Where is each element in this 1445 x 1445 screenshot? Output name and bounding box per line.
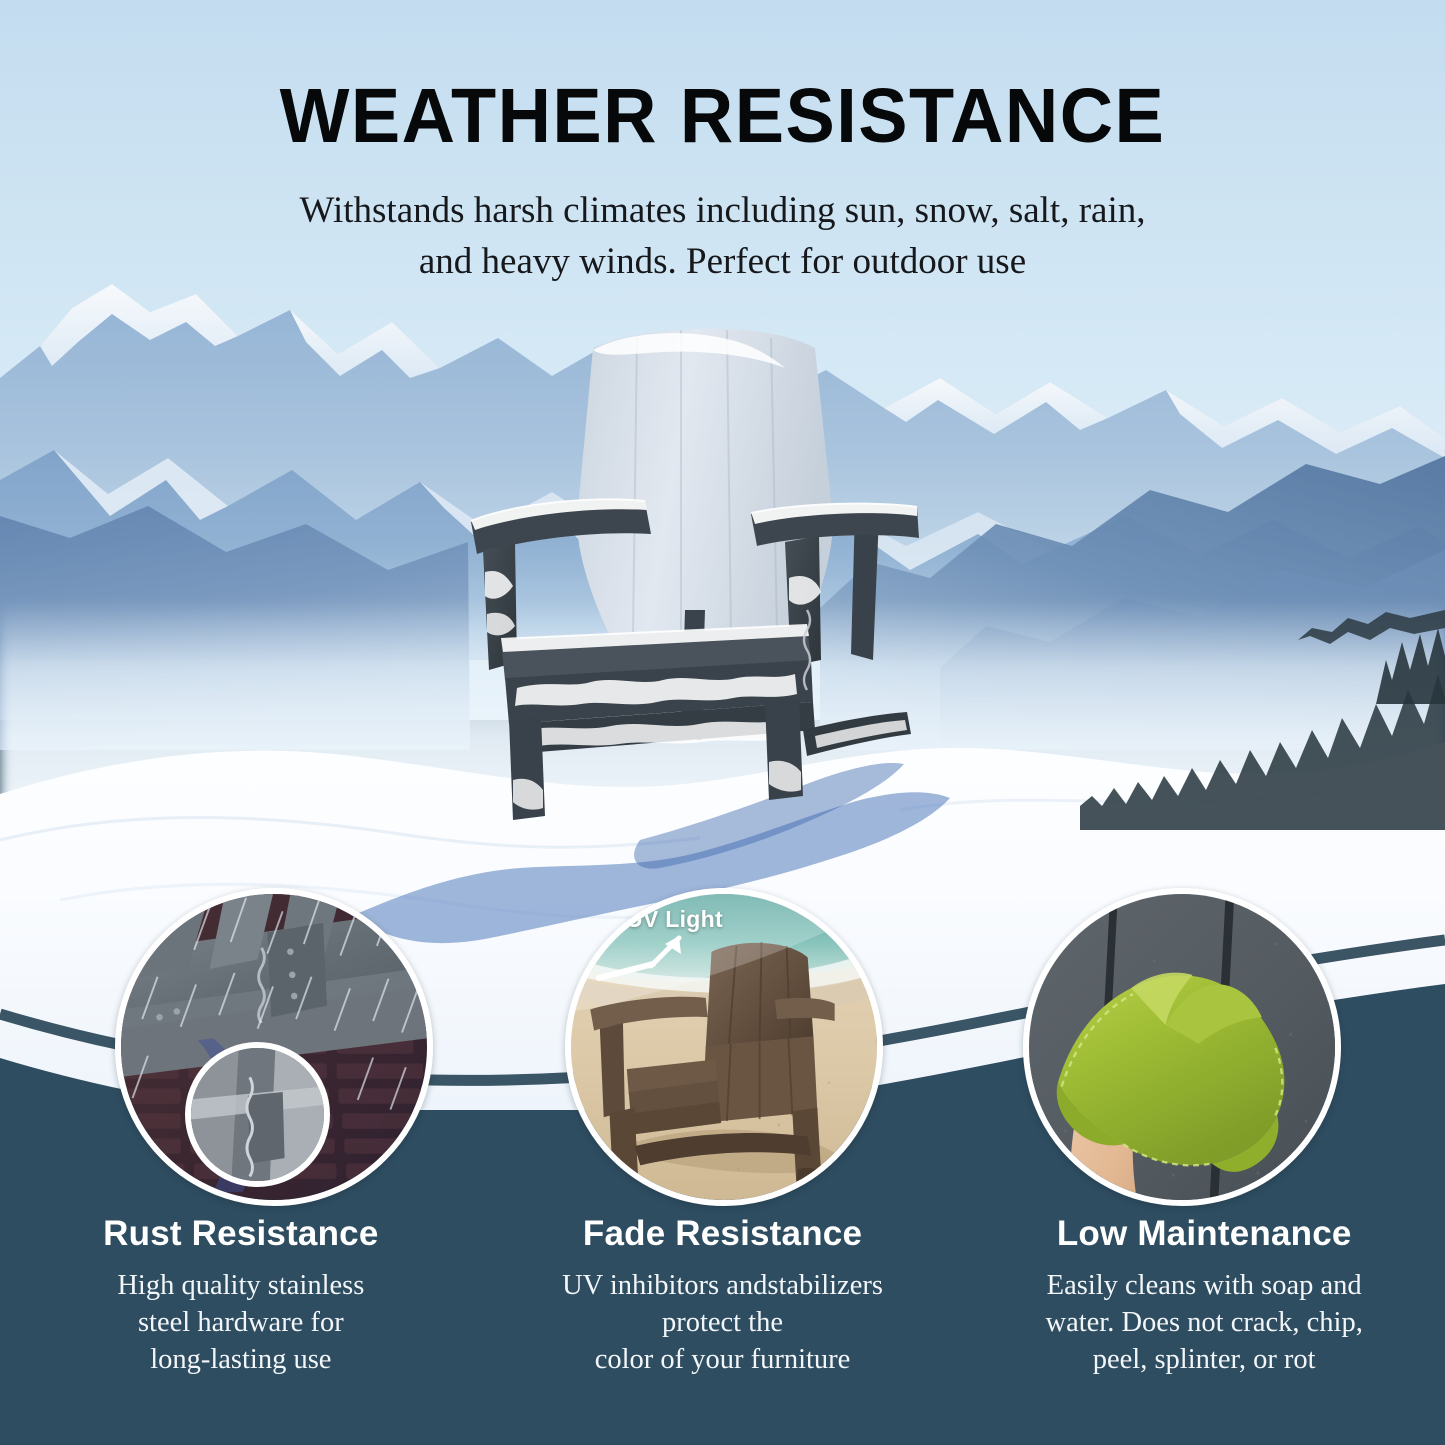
feature-image-fade-resistance: UV Light bbox=[565, 888, 883, 1206]
subtitle-line-1: Withstands harsh climates including sun,… bbox=[0, 185, 1445, 236]
feature-card-low-maintenance: Low Maintenance Easily cleans with soap … bbox=[963, 1215, 1445, 1435]
infographic-canvas: WEATHER RESISTANCE Withstands harsh clim… bbox=[0, 0, 1445, 1445]
feature-image-low-maintenance bbox=[1023, 888, 1341, 1206]
tree-branch-silhouette bbox=[1290, 570, 1445, 690]
chain-closeup-photo bbox=[191, 1048, 324, 1181]
uv-light-label: UV Light bbox=[626, 906, 723, 933]
feature-description: UV inhibitors andstabilizers protect the… bbox=[496, 1267, 950, 1378]
page-subtitle: Withstands harsh climates including sun,… bbox=[0, 185, 1445, 287]
header-block: WEATHER RESISTANCE Withstands harsh clim… bbox=[0, 0, 1445, 287]
feature-card-fade-resistance: Fade Resistance UV inhibitors andstabili… bbox=[482, 1215, 964, 1435]
feature-cards: Rust Resistance High quality stainless s… bbox=[0, 1215, 1445, 1435]
feature-title: Rust Resistance bbox=[14, 1215, 468, 1254]
cleaning-cloth-photo bbox=[1029, 894, 1335, 1200]
feature-card-rust-resistance: Rust Resistance High quality stainless s… bbox=[0, 1215, 482, 1435]
feature-inset-hardware-closeup bbox=[185, 1042, 330, 1187]
hero-chair-snow-covered bbox=[455, 310, 955, 840]
feature-title: Fade Resistance bbox=[496, 1215, 950, 1254]
feature-description: Easily cleans with soap and water. Does … bbox=[977, 1267, 1431, 1378]
uv-light-arrow-icon bbox=[595, 934, 705, 992]
feature-title: Low Maintenance bbox=[977, 1215, 1431, 1254]
subtitle-line-2: and heavy winds. Perfect for outdoor use bbox=[0, 236, 1445, 287]
page-title: WEATHER RESISTANCE bbox=[29, 78, 1416, 155]
feature-description: High quality stainless steel hardware fo… bbox=[14, 1267, 468, 1378]
